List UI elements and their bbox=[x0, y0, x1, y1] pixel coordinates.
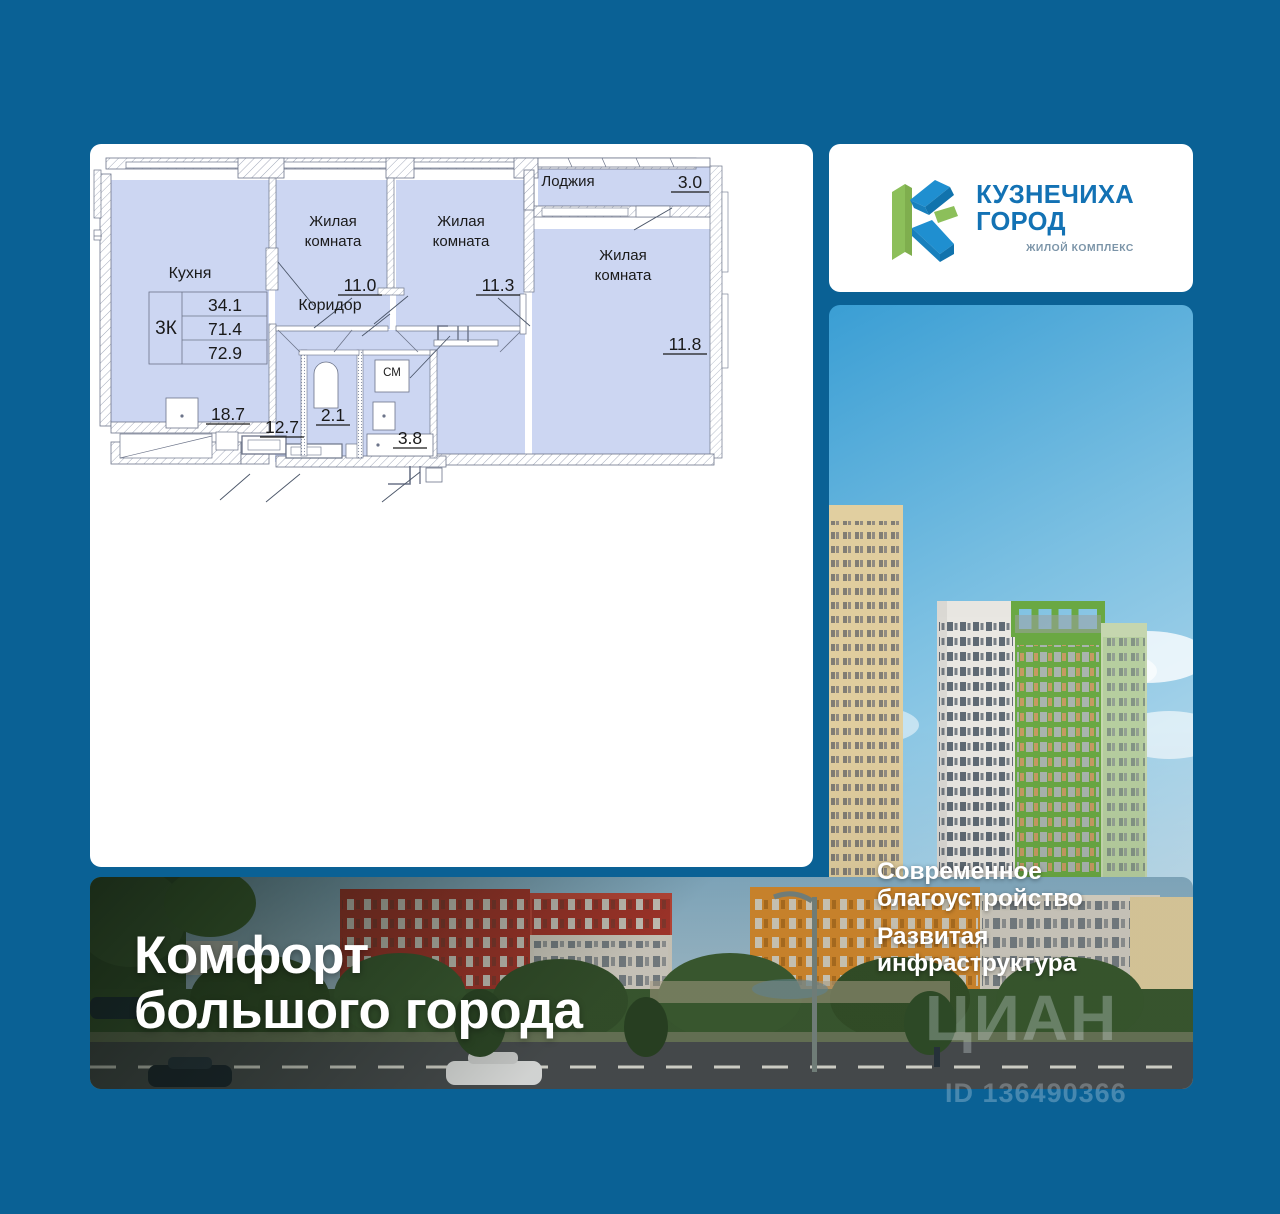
area-table: 3К 34.1 71.4 72.9 bbox=[149, 292, 267, 364]
corridor-area: 12.7 bbox=[265, 417, 299, 437]
banner-line-2: большого города bbox=[134, 984, 583, 1039]
advertisement-page: 3К 34.1 71.4 72.9 Кухня Жилая комната Жи… bbox=[0, 0, 1280, 1214]
apartment-type: 3К bbox=[155, 318, 177, 339]
caption-block-2: Развитая инфраструктура bbox=[877, 924, 1187, 977]
logo-line-1: КУЗНЕЧИХА bbox=[976, 182, 1134, 209]
logo-subtitle: ЖИЛОЙ КОМПЛЕКС bbox=[976, 243, 1134, 254]
kitchen-label: Кухня bbox=[169, 265, 212, 282]
caption-1-line-1: Современное bbox=[877, 859, 1187, 885]
banner-headline: Комфорт большого города bbox=[134, 929, 583, 1038]
loggia-area: 3.0 bbox=[678, 172, 703, 192]
room-right-area: 11.8 bbox=[669, 334, 702, 354]
room-left-area: 11.0 bbox=[344, 275, 377, 295]
room-left-label-2: комната bbox=[305, 233, 362, 250]
room-right-label-1: Жилая bbox=[599, 247, 646, 264]
banner-line-1: Комфорт bbox=[134, 929, 583, 984]
logo-text-block: КУЗНЕЧИХА ГОРОД ЖИЛОЙ КОМПЛЕКС bbox=[976, 182, 1134, 254]
kuznechikha-k-logo-icon bbox=[888, 170, 962, 266]
caption-block-1: Современное благоустройство bbox=[877, 859, 1187, 912]
building-render-card: Современное благоустройство Развитая инф… bbox=[829, 305, 1193, 1089]
room-mid-area: 11.3 bbox=[482, 275, 515, 295]
logo-card: КУЗНЕЧИХА ГОРОД ЖИЛОЙ КОМПЛЕКС bbox=[829, 144, 1193, 292]
loggia-label: Лоджия bbox=[541, 173, 594, 190]
watermark-id: ID 136490366 bbox=[945, 1078, 1127, 1109]
bath-area: 2.1 bbox=[321, 405, 345, 425]
floorplan-card: 3К 34.1 71.4 72.9 Кухня Жилая комната Жи… bbox=[90, 144, 813, 867]
caption-1-line-2: благоустройство bbox=[877, 886, 1187, 912]
room-left-label-1: Жилая bbox=[309, 213, 356, 230]
wc-area: 3.8 bbox=[398, 428, 422, 448]
render-caption-group: Современное благоустройство Развитая инф… bbox=[877, 859, 1187, 989]
area-total-row2: 71.4 bbox=[208, 319, 242, 339]
room-right-label-2: комната bbox=[595, 267, 652, 284]
watermark-brand: ЦИАН bbox=[925, 981, 1118, 1055]
caption-2-line-1: Развитая bbox=[877, 924, 1187, 950]
area-total-row3: 72.9 bbox=[208, 343, 242, 363]
logo-line-2: ГОРОД bbox=[976, 209, 1134, 236]
room-mid-label-1: Жилая bbox=[437, 213, 484, 230]
corridor-label: Коридор bbox=[298, 297, 361, 314]
exterior-wall-left bbox=[94, 170, 111, 426]
caption-2-line-2: инфраструктура bbox=[877, 951, 1187, 977]
floorplan-drawing: 3К 34.1 71.4 72.9 Кухня Жилая комната Жи… bbox=[90, 144, 813, 867]
area-total-row1: 34.1 bbox=[208, 295, 242, 315]
kitchen-area: 18.7 bbox=[211, 404, 245, 424]
washer-label: СМ bbox=[383, 367, 401, 379]
room-mid-label-2: комната bbox=[433, 233, 490, 250]
